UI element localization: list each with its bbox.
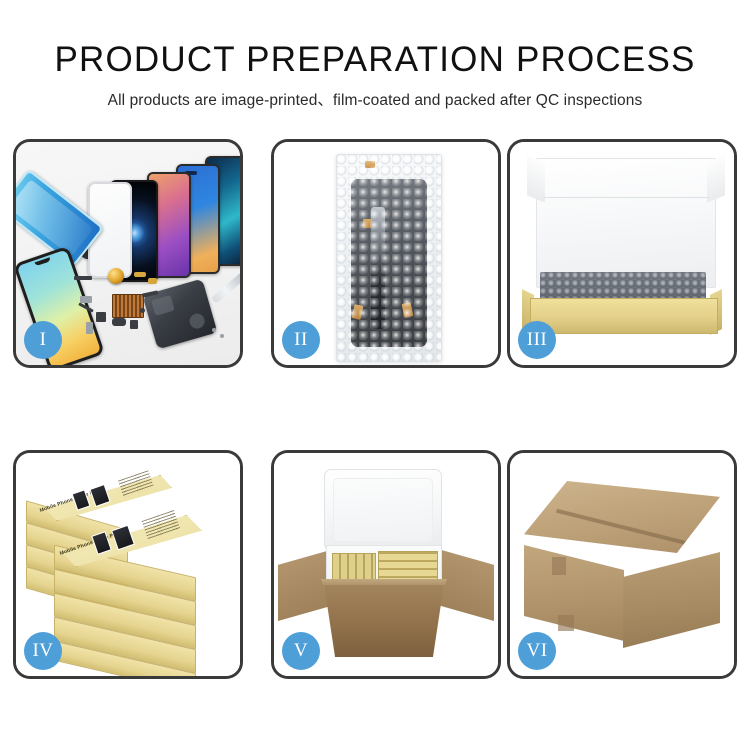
page-header: PRODUCT PREPARATION PROCESS All products… bbox=[0, 0, 750, 128]
foam-flap-right bbox=[707, 155, 725, 202]
process-step-3: III bbox=[507, 139, 737, 368]
step-badge-3: III bbox=[518, 321, 556, 359]
part-sim-tray bbox=[86, 322, 93, 334]
part-speaker bbox=[112, 318, 126, 326]
part-ic-chip bbox=[96, 312, 106, 322]
step-1-image: I bbox=[16, 142, 240, 365]
foam-lid-open bbox=[324, 469, 442, 551]
step-badge-4: IV bbox=[24, 632, 62, 670]
process-step-1: I bbox=[13, 139, 243, 368]
carton-tape-lower bbox=[558, 615, 574, 631]
carton-tape-upper bbox=[552, 557, 566, 575]
page-title: PRODUCT PREPARATION PROCESS bbox=[0, 40, 750, 80]
wrapped-part bbox=[351, 179, 427, 347]
step-5-image: V bbox=[274, 453, 498, 676]
process-step-4: Mobile Phone Spare Parts Mobile Phone Sp… bbox=[13, 450, 243, 679]
wrapped-flex-cable bbox=[371, 207, 385, 329]
process-step-grid: I II bbox=[0, 128, 750, 750]
step-2-image: II bbox=[274, 142, 498, 365]
step-3-image: III bbox=[510, 142, 734, 365]
part-screw-small-2 bbox=[220, 334, 224, 338]
part-gold-clip bbox=[148, 278, 157, 284]
part-gold-strip bbox=[134, 272, 146, 277]
white-foam-lid bbox=[536, 158, 716, 288]
foam-lid-inset bbox=[333, 478, 433, 542]
step-4-image: Mobile Phone Spare Parts Mobile Phone Sp… bbox=[16, 453, 240, 676]
process-step-6: VI bbox=[507, 450, 737, 679]
page-subtitle: All products are image-printed、film-coat… bbox=[0, 88, 750, 110]
tape-top bbox=[365, 161, 375, 168]
yellow-box-front-face bbox=[530, 298, 718, 334]
carton-body bbox=[316, 585, 452, 657]
step-badge-6: VI bbox=[518, 632, 556, 670]
phone-front-notch bbox=[35, 257, 51, 266]
copper-chip-icon bbox=[112, 294, 144, 318]
part-screw-small bbox=[212, 328, 216, 332]
gold-component-icon bbox=[108, 268, 124, 284]
part-strip bbox=[74, 276, 92, 280]
tape-middle bbox=[363, 219, 372, 228]
process-step-5: V bbox=[271, 450, 501, 679]
foam-flap-left bbox=[527, 155, 545, 202]
step-badge-2: II bbox=[282, 321, 320, 359]
part-connector bbox=[80, 296, 92, 303]
step-badge-1: I bbox=[24, 321, 62, 359]
foam-crease bbox=[543, 197, 709, 198]
bubble-wrap-bag bbox=[336, 154, 442, 362]
step-badge-5: V bbox=[282, 632, 320, 670]
part-screw bbox=[140, 308, 145, 313]
step-6-image: VI bbox=[510, 453, 734, 676]
part-button bbox=[130, 320, 138, 329]
process-step-2: II bbox=[271, 139, 501, 368]
